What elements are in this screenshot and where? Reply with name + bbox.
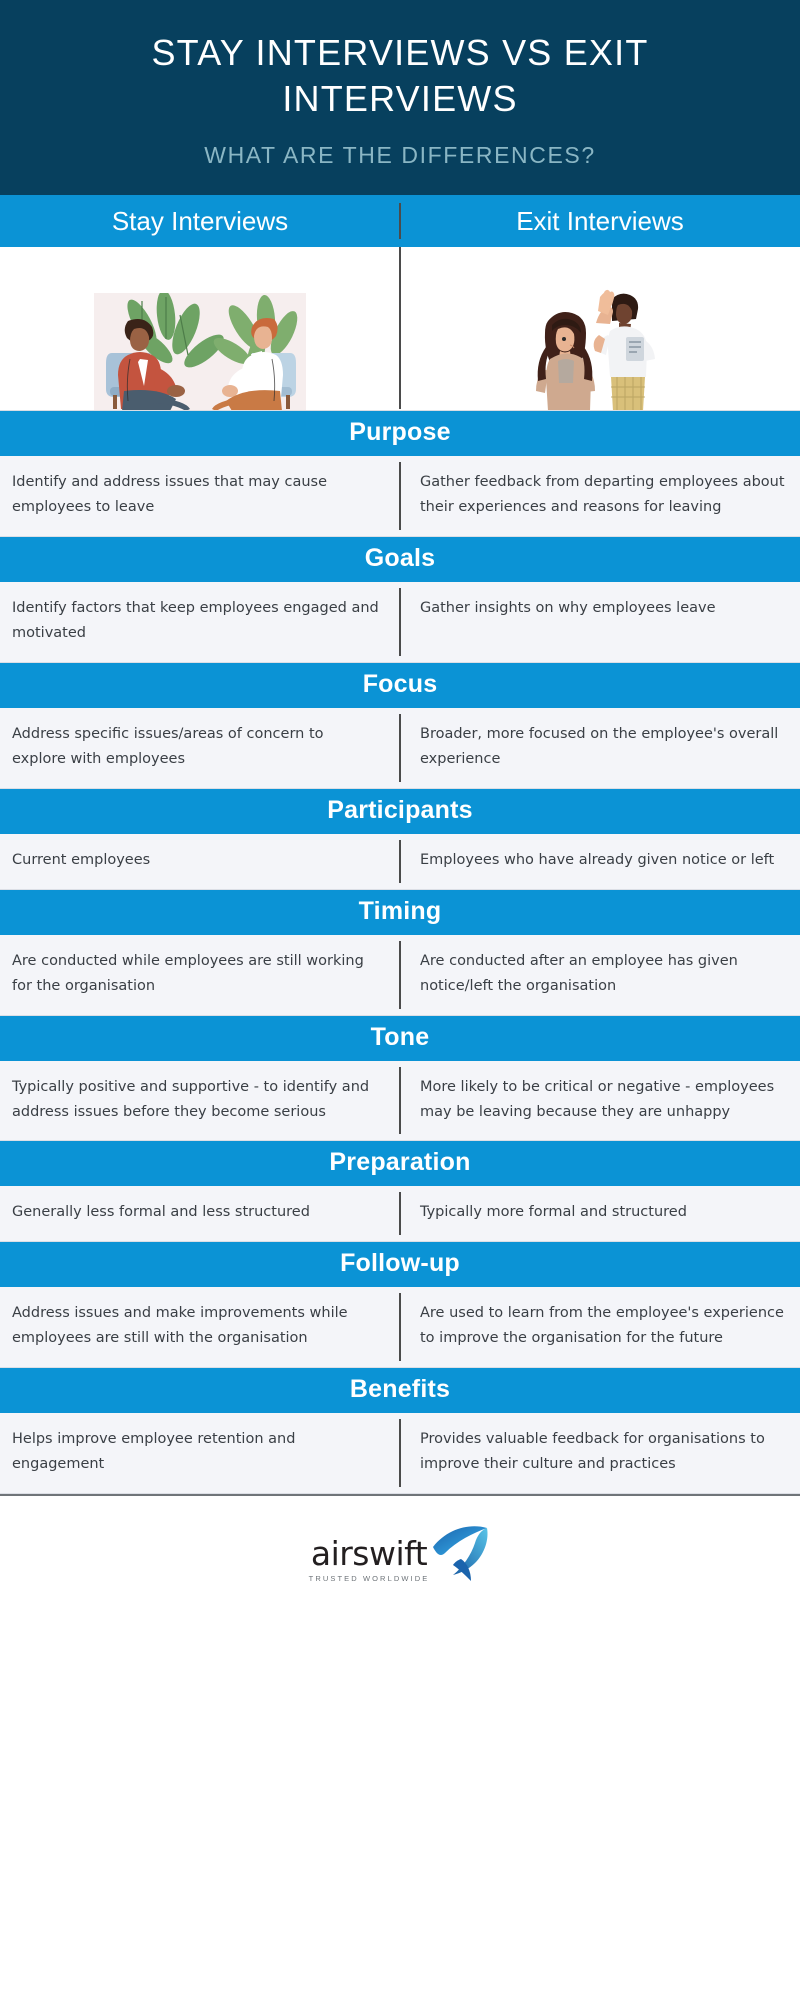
section-cell-exit: Typically more formal and structured xyxy=(400,1186,800,1241)
section-cell-exit: Employees who have already given notice … xyxy=(400,834,800,889)
section-body: Current employeesEmployees who have alre… xyxy=(0,834,800,890)
section-body: Identify factors that keep employees eng… xyxy=(0,582,800,663)
section-divider xyxy=(399,1192,401,1235)
section-cell-exit: Broader, more focused on the employee's … xyxy=(400,708,800,788)
section-cell-exit: Are conducted after an employee has give… xyxy=(400,935,800,1015)
section-body: Typically positive and supportive - to i… xyxy=(0,1061,800,1142)
section-label: Goals xyxy=(0,537,800,582)
section-label: Focus xyxy=(0,663,800,708)
section-body: Helps improve employee retention and eng… xyxy=(0,1413,800,1494)
section-cell-stay: Identify factors that keep employees eng… xyxy=(0,582,400,662)
section-cell-exit: More likely to be critical or negative -… xyxy=(400,1061,800,1141)
section-body: Address issues and make improvements whi… xyxy=(0,1287,800,1368)
column-header-exit-interviews: Exit Interviews xyxy=(400,206,800,237)
section-label: Tone xyxy=(0,1016,800,1061)
section-cell-stay: Are conducted while employees are still … xyxy=(0,935,400,1015)
illustration-cell-right xyxy=(400,247,800,411)
section-cell-exit: Provides valuable feedback for organisat… xyxy=(400,1413,800,1493)
section-divider xyxy=(399,1067,401,1135)
section-divider xyxy=(399,462,401,530)
airswift-logo-wordmark: airswift xyxy=(309,1537,430,1570)
section-body: Address specific issues/areas of concern… xyxy=(0,708,800,789)
section-label: Preparation xyxy=(0,1141,800,1186)
two-women-waving-goodbye-illustration xyxy=(500,289,700,411)
section-divider xyxy=(399,588,401,656)
section-cell-exit: Gather feedback from departing employees… xyxy=(400,456,800,536)
section-label: Participants xyxy=(0,789,800,834)
section-body: Generally less formal and less structure… xyxy=(0,1186,800,1242)
page-subtitle: WHAT ARE THE DIFFERENCES? xyxy=(60,142,740,169)
section-divider xyxy=(399,1293,401,1361)
illustration-cell-left xyxy=(0,247,400,411)
section-divider xyxy=(399,840,401,883)
section-cell-exit: Gather insights on why employees leave xyxy=(400,582,800,662)
section-cell-stay: Current employees xyxy=(0,834,400,889)
section-label: Timing xyxy=(0,890,800,935)
airswift-logo[interactable]: airswift TRUSTED WORLDWIDE xyxy=(309,1525,492,1583)
section-divider xyxy=(399,941,401,1009)
section-divider xyxy=(399,714,401,782)
section-cell-stay: Helps improve employee retention and eng… xyxy=(0,1413,400,1493)
page-header: STAY INTERVIEWS VS EXIT INTERVIEWS WHAT … xyxy=(0,0,800,195)
comparison-column-headers: Stay Interviews Exit Interviews xyxy=(0,195,800,247)
airswift-logo-tagline: TRUSTED WORLDWIDE xyxy=(309,1574,430,1583)
section-body: Identify and address issues that may cau… xyxy=(0,456,800,537)
section-body: Are conducted while employees are still … xyxy=(0,935,800,1016)
airswift-bird-logo xyxy=(431,1525,491,1583)
section-label: Follow-up xyxy=(0,1242,800,1287)
column-divider xyxy=(399,203,401,239)
section-divider xyxy=(399,1419,401,1487)
page-footer: airswift TRUSTED WORLDWIDE xyxy=(0,1494,800,1612)
two-people-seated-conversation-illustration xyxy=(94,293,306,411)
comparison-sections: PurposeIdentify and address issues that … xyxy=(0,411,800,1494)
section-label: Benefits xyxy=(0,1368,800,1413)
section-cell-exit: Are used to learn from the employee's ex… xyxy=(400,1287,800,1367)
section-cell-stay: Generally less formal and less structure… xyxy=(0,1186,400,1241)
infographic-page: STAY INTERVIEWS VS EXIT INTERVIEWS WHAT … xyxy=(0,0,800,2000)
illustration-row xyxy=(0,247,800,411)
section-label: Purpose xyxy=(0,411,800,456)
column-header-stay-interviews: Stay Interviews xyxy=(0,206,400,237)
page-title: STAY INTERVIEWS VS EXIT INTERVIEWS xyxy=(60,30,740,122)
section-cell-stay: Address specific issues/areas of concern… xyxy=(0,708,400,788)
section-cell-stay: Identify and address issues that may cau… xyxy=(0,456,400,536)
illustration-divider xyxy=(399,247,401,409)
section-cell-stay: Typically positive and supportive - to i… xyxy=(0,1061,400,1141)
section-cell-stay: Address issues and make improvements whi… xyxy=(0,1287,400,1367)
